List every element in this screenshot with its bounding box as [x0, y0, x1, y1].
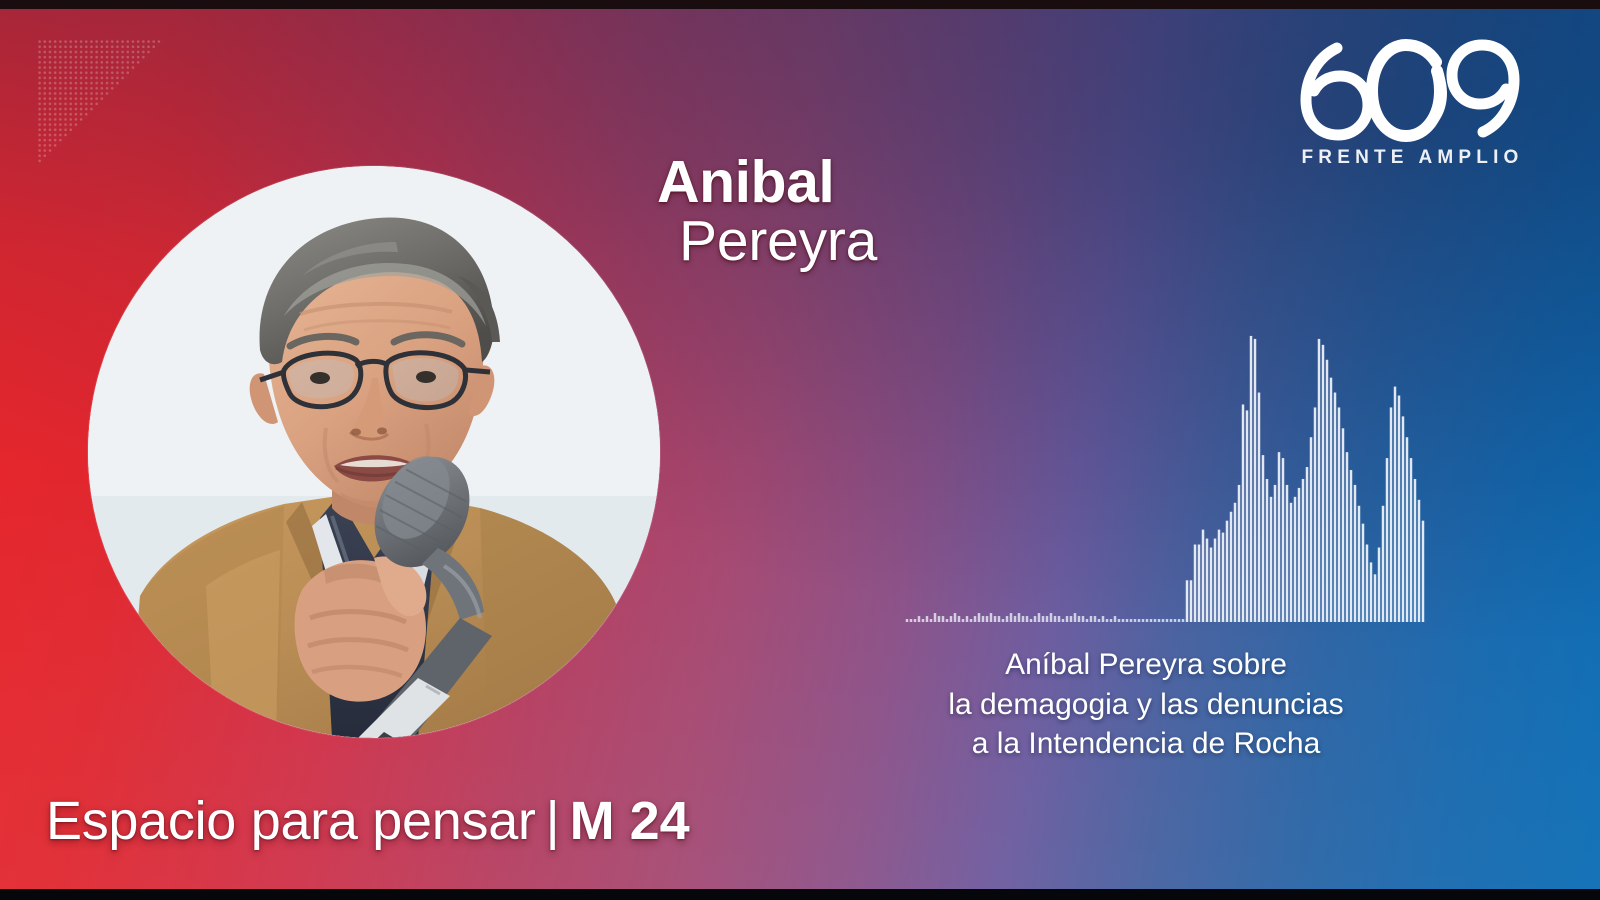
letterbox-band-bottom — [0, 889, 1600, 900]
portrait-illustration — [88, 166, 660, 738]
caption-line-1: Aníbal Pereyra sobre — [860, 645, 1432, 685]
logo-609: FRENTE AMPLIO — [1290, 36, 1530, 169]
program-channel: M 24 — [570, 791, 690, 851]
caption-line-3: a la Intendencia de Rocha — [860, 724, 1432, 764]
speaker-name-block: Anibal Pereyra — [657, 152, 1277, 271]
caption-line-2: la demagogia y las denuncias — [860, 685, 1432, 725]
speaker-first-name: Anibal — [657, 152, 1277, 212]
broadcast-lower-third-graphic: Anibal Pereyra FRENTE AMPLIO Aníbal Pere… — [0, 0, 1600, 900]
audio-waveform-bars — [905, 320, 1425, 622]
program-name: Espacio para pensar — [46, 791, 536, 851]
speaker-last-name: Pereyra — [657, 212, 1277, 271]
logo-subtitle: FRENTE AMPLIO — [1290, 147, 1530, 169]
audio-waveform-chart — [905, 320, 1425, 622]
program-title-bar: Espacio para pensar|M 24 — [46, 790, 690, 852]
logo-609-mark — [1290, 36, 1530, 144]
letterbox-band-top — [0, 0, 1600, 9]
caption-block: Aníbal Pereyra sobre la demagogia y las … — [860, 645, 1432, 764]
avatar — [88, 166, 660, 738]
program-separator: | — [536, 791, 570, 851]
